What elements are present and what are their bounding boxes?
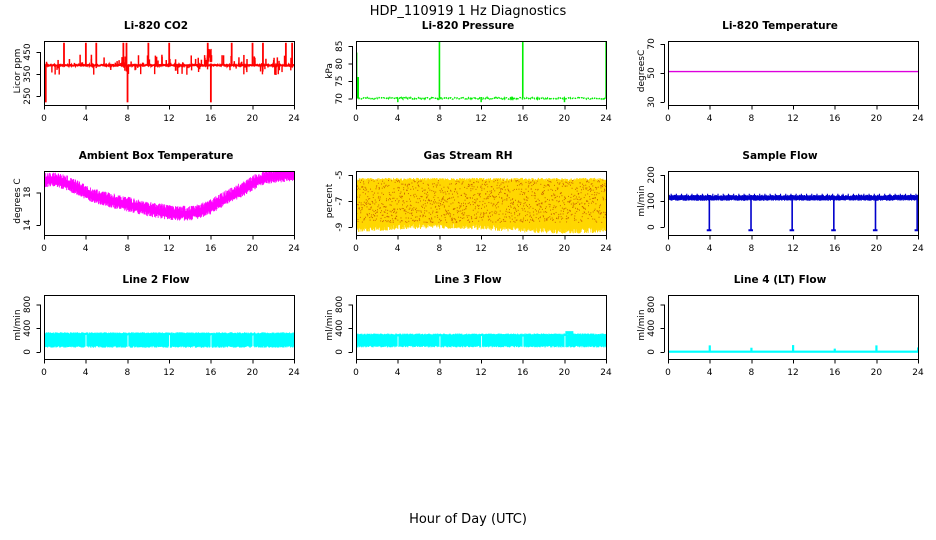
data-series (44, 43, 294, 103)
y-tick-label: -9 (335, 222, 345, 231)
x-tick-label: 16 (205, 114, 217, 124)
x-tick-label: 20 (871, 368, 883, 378)
y-tick-label: 85 (335, 41, 345, 52)
x-tick-label: 0 (41, 114, 47, 124)
x-tick-label: 0 (353, 368, 359, 378)
x-tick-label: 16 (829, 368, 841, 378)
plot-area: 04812162024-5-7-9 (312, 148, 624, 268)
plot-area: 048121620240100200 (624, 148, 936, 268)
x-tick-label: 24 (600, 368, 612, 378)
data-series (668, 194, 922, 232)
panel-1: Li-820 CO2Licor ppm04812162024250350450 (0, 18, 312, 138)
x-tick-label: 20 (559, 368, 571, 378)
x-tick-label: 8 (124, 368, 130, 378)
y-tick-label: 200 (647, 166, 657, 183)
plot-area: 048121620240400800 (312, 272, 624, 392)
x-tick-label: 0 (41, 368, 47, 378)
x-tick-label: 8 (436, 244, 442, 254)
y-tick-label: 70 (335, 93, 345, 105)
x-tick-label: 20 (559, 244, 571, 254)
x-tick-label: 8 (124, 244, 130, 254)
x-tick-label: 4 (395, 114, 401, 124)
x-tick-label: 8 (748, 114, 754, 124)
x-tick-label: 4 (707, 114, 713, 124)
y-tick-label: 14 (23, 219, 33, 231)
figure-title: HDP_110919 1 Hz Diagnostics (0, 4, 936, 19)
y-tick-label: 400 (335, 319, 345, 336)
x-tick-label: 8 (436, 114, 442, 124)
x-tick-label: 16 (829, 114, 841, 124)
x-tick-label: 24 (288, 244, 300, 254)
x-tick-label: 0 (353, 114, 359, 124)
x-tick-label: 20 (247, 244, 259, 254)
data-series (356, 178, 607, 234)
y-tick-label: -5 (335, 170, 345, 179)
x-tick-label: 24 (600, 114, 612, 124)
x-tick-label: 16 (517, 114, 529, 124)
y-tick-label: 0 (647, 349, 657, 355)
data-series (44, 167, 295, 221)
plot-box (669, 42, 919, 106)
y-tick-label: 80 (335, 58, 345, 70)
x-tick-label: 12 (163, 368, 174, 378)
x-tick-label: 20 (559, 114, 571, 124)
x-tick-label: 20 (247, 368, 259, 378)
panel-8: Line 3 Flowml/min048121620240400800 (312, 272, 624, 392)
y-tick-label: 18 (23, 186, 33, 198)
y-tick-label: 0 (335, 349, 345, 355)
x-tick-label: 24 (912, 114, 924, 124)
x-tick-label: 4 (707, 244, 713, 254)
panel-6: Sample Flowml/min048121620240100200 (624, 148, 936, 268)
x-tick-label: 0 (665, 114, 671, 124)
panel-5: Gas Stream RHpercent04812162024-5-7-9 (312, 148, 624, 268)
x-tick-label: 16 (205, 368, 217, 378)
y-tick-label: -7 (335, 197, 345, 206)
diagnostics-figure: HDP_110919 1 Hz Diagnostics Li-820 CO2Li… (0, 0, 936, 540)
data-series (44, 332, 295, 347)
x-tick-label: 0 (353, 244, 359, 254)
x-tick-label: 20 (871, 244, 883, 254)
y-tick-label: 75 (335, 75, 345, 86)
y-tick-label: 400 (647, 319, 657, 336)
data-series (356, 42, 607, 102)
x-tick-label: 8 (436, 368, 442, 378)
y-tick-label: 50 (647, 67, 657, 79)
data-series (668, 345, 919, 353)
plot-area: 048121620240400800 (624, 272, 936, 392)
y-tick-label: 350 (23, 65, 33, 82)
x-tick-label: 4 (395, 244, 401, 254)
x-tick-label: 16 (517, 244, 529, 254)
data-series (356, 331, 607, 347)
x-tick-label: 12 (163, 114, 174, 124)
x-tick-label: 4 (83, 368, 89, 378)
y-tick-label: 100 (647, 192, 657, 209)
y-tick-label: 0 (23, 349, 33, 355)
y-tick-label: 0 (647, 224, 657, 230)
x-tick-label: 8 (748, 244, 754, 254)
x-tick-label: 4 (707, 368, 713, 378)
plot-area: 048121620241418 (0, 148, 312, 268)
y-tick-label: 30 (647, 96, 657, 108)
x-tick-label: 8 (748, 368, 754, 378)
y-tick-label: 450 (23, 43, 33, 60)
plot-area: 0481216202470758085 (312, 18, 624, 138)
x-tick-label: 12 (475, 244, 486, 254)
plot-box (357, 296, 607, 360)
x-tick-label: 12 (163, 244, 174, 254)
plot-box (669, 172, 919, 236)
x-tick-label: 0 (665, 368, 671, 378)
panel-2: Li-820 PressurekPa0481216202470758085 (312, 18, 624, 138)
plot-area: 04812162024305070 (624, 18, 936, 138)
x-tick-label: 24 (600, 244, 612, 254)
x-tick-label: 24 (912, 244, 924, 254)
y-tick-label: 400 (23, 319, 33, 336)
panel-7: Line 2 Flowml/min048121620240400800 (0, 272, 312, 392)
x-tick-label: 4 (83, 114, 89, 124)
x-tick-label: 12 (475, 114, 486, 124)
panel-3: Li-820 TemperaturedegreesC04812162024305… (624, 18, 936, 138)
plot-area: 048121620240400800 (0, 272, 312, 392)
figure-xlabel: Hour of Day (UTC) (0, 512, 936, 527)
x-tick-label: 20 (871, 114, 883, 124)
x-tick-label: 12 (787, 114, 798, 124)
plot-box (357, 42, 607, 106)
x-tick-label: 0 (665, 244, 671, 254)
x-tick-label: 4 (83, 244, 89, 254)
x-tick-label: 0 (41, 244, 47, 254)
y-tick-label: 800 (647, 296, 657, 313)
x-tick-label: 24 (288, 114, 300, 124)
x-tick-label: 12 (475, 368, 486, 378)
panel-9: Line 4 (LT) Flowml/min048121620240400800 (624, 272, 936, 392)
plot-box (45, 296, 295, 360)
x-tick-label: 24 (288, 368, 300, 378)
x-tick-label: 12 (787, 244, 798, 254)
x-tick-label: 12 (787, 368, 798, 378)
x-tick-label: 4 (395, 368, 401, 378)
plot-area: 04812162024250350450 (0, 18, 312, 138)
y-tick-label: 800 (335, 296, 345, 313)
y-tick-label: 800 (23, 296, 33, 313)
y-tick-label: 70 (647, 38, 657, 50)
x-tick-label: 20 (247, 114, 259, 124)
x-tick-label: 16 (205, 244, 217, 254)
x-tick-label: 16 (829, 244, 841, 254)
panel-4: Ambient Box Temperaturedegrees C04812162… (0, 148, 312, 268)
x-tick-label: 8 (124, 114, 130, 124)
x-tick-label: 16 (517, 368, 529, 378)
x-tick-label: 24 (912, 368, 924, 378)
y-tick-label: 250 (23, 87, 33, 104)
